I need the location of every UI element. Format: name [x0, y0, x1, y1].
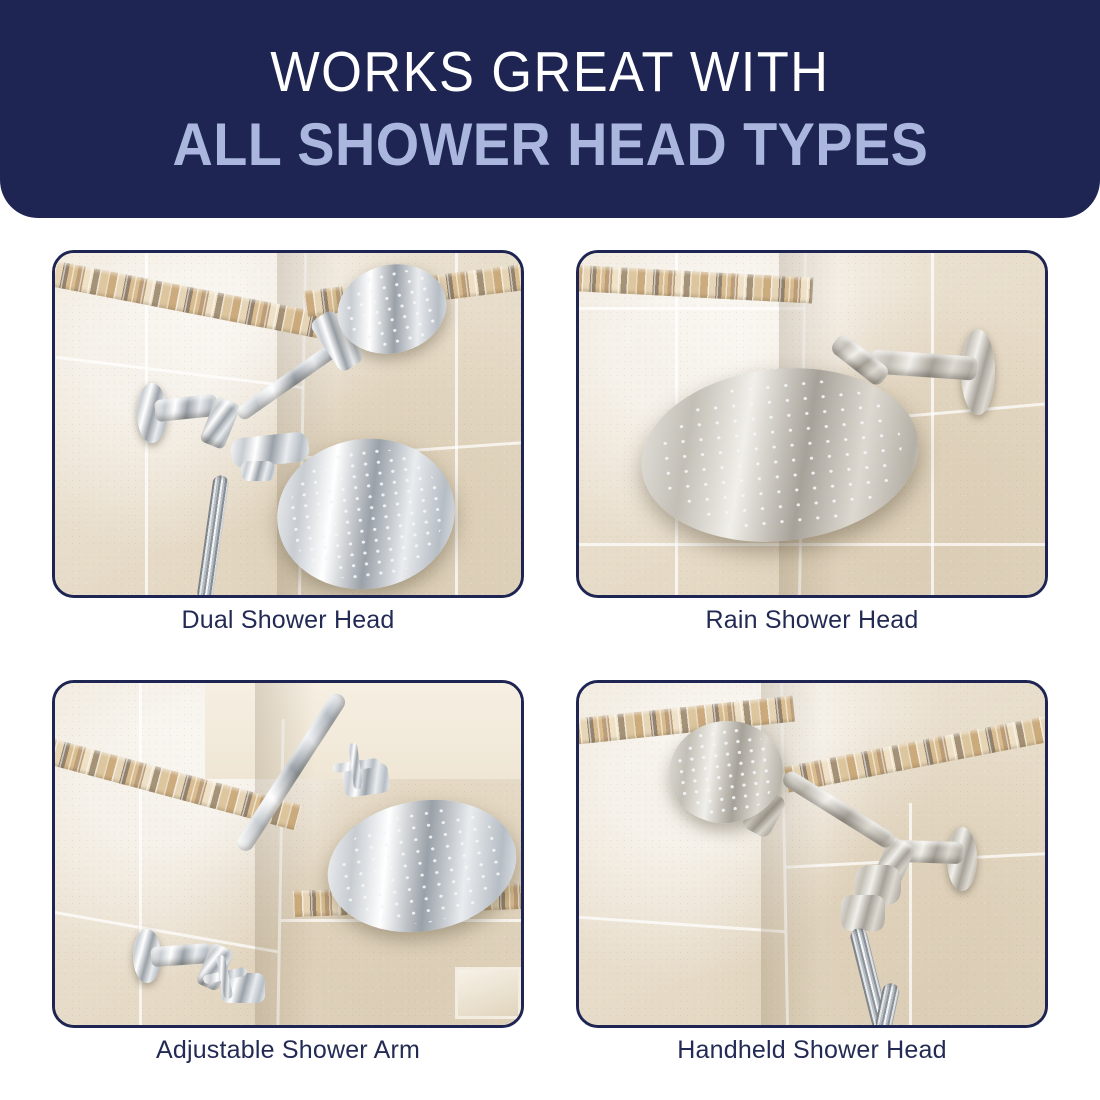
handheld-holder — [841, 895, 885, 931]
grout-line — [909, 803, 912, 1028]
card-adjustable-shower-arm: Adjustable Shower Arm — [52, 680, 524, 1028]
hose-connector — [241, 461, 275, 481]
card-caption-rain-shower-head: Rain Shower Head — [576, 606, 1048, 635]
grout-line — [455, 253, 458, 595]
card-handheld-shower-head: Handheld Shower Head — [576, 680, 1048, 1028]
card-caption-handheld-shower-head: Handheld Shower Head — [576, 1036, 1048, 1065]
photo-dual-shower-head — [55, 253, 521, 595]
photo-rain-shower-head — [579, 253, 1045, 595]
card-caption-dual-shower-head: Dual Shower Head — [52, 606, 524, 635]
infographic-page: WORKS GREAT WITH ALL SHOWER HEAD TYPES — [0, 0, 1100, 1100]
card-rain-shower-head: Rain Shower Head — [576, 250, 1048, 598]
corner-shadow — [761, 683, 821, 1025]
photo-frame-rain-shower-head — [576, 250, 1048, 598]
shower-type-grid: Dual Shower Head — [52, 250, 1048, 1080]
card-caption-adjustable-shower-arm: Adjustable Shower Arm — [52, 1036, 524, 1065]
shower-niche — [455, 967, 521, 1019]
photo-adjustable-shower-arm — [55, 683, 521, 1025]
card-dual-shower-head: Dual Shower Head — [52, 250, 524, 598]
photo-frame-dual-shower-head — [52, 250, 524, 598]
photo-handheld-shower-head — [579, 683, 1045, 1025]
banner-title-line1: WORKS GREAT WITH — [270, 44, 829, 101]
photo-frame-handheld-shower-head — [576, 680, 1048, 1028]
header-banner: WORKS GREAT WITH ALL SHOWER HEAD TYPES — [0, 0, 1100, 218]
photo-frame-adjustable-shower-arm — [52, 680, 524, 1028]
nozzle-pattern — [670, 721, 782, 824]
grout-line — [579, 307, 805, 310]
banner-title-line2: ALL SHOWER HEAD TYPES — [172, 115, 928, 175]
